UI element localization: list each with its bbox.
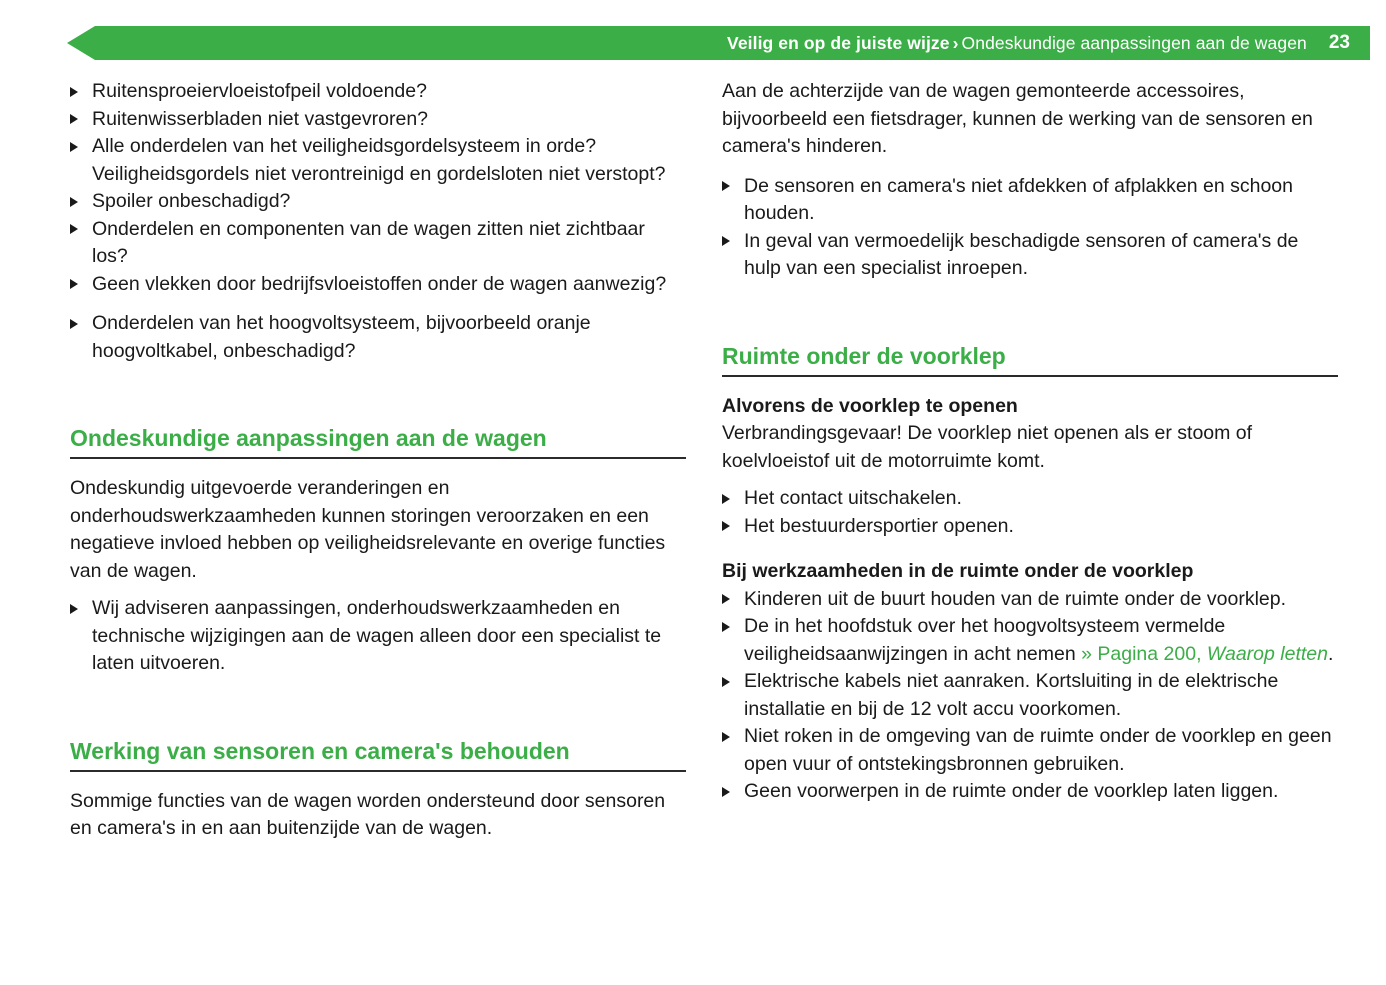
section1-bullet-list: Wij adviseren aanpassingen, onderhoudswe… [70, 595, 686, 678]
running-header-text: Veilig en op de juiste wijze›Ondeskundig… [727, 33, 1307, 54]
section-heading-ondeskundige-aanpassingen: Ondeskundige aanpassingen aan de wagen [70, 423, 686, 459]
section-heading-werking-sensoren: Werking van sensoren en camera's behoude… [70, 736, 686, 772]
list-item-text: Het bestuurdersportier openen. [744, 515, 1014, 537]
list-item: Het contact uitschakelen. [722, 485, 1338, 513]
right-intro-paragraph: Aan de achterzijde van de wagen gemontee… [722, 78, 1338, 161]
list-item: Niet roken in de omgeving van de ruimte … [722, 723, 1338, 778]
section2-paragraph: Sommige functies van de wagen worden ond… [70, 788, 686, 843]
subheading-bij-werkzaamheden: Bij werkzaamheden in de ruimte onder de … [722, 558, 1338, 586]
triangle-bullet-icon [722, 732, 730, 742]
list-item-text: De sensoren en camera's niet afdekken of… [744, 175, 1293, 225]
header-separator-icon: › [950, 33, 962, 53]
list-item-text: Geen vlekken door bedrijfsvloeistoffen o… [92, 273, 666, 295]
list-item: Ruitenwisserbladen niet vastgevroren? [70, 106, 686, 134]
spacer [70, 365, 686, 423]
section3-paragraph1: Verbrandingsgevaar! De voorklep niet ope… [722, 420, 1338, 475]
section-heading-ruimte-onder-voorklep: Ruimte onder de voorklep [722, 341, 1338, 377]
list-item-text: Kinderen uit de buurt houden van de ruim… [744, 588, 1286, 610]
list-item-text: Onderdelen en componenten van de wagen z… [92, 218, 645, 268]
list-item: Elektrische kabels niet aanraken. Kortsl… [722, 668, 1338, 723]
crossreference-suffix: . [1328, 643, 1333, 665]
list-item: Onderdelen van het hoogvoltsysteem, bijv… [70, 310, 686, 365]
spacer [722, 163, 1338, 173]
spacer [722, 477, 1338, 485]
spacer [70, 772, 686, 788]
triangle-bullet-icon [70, 604, 78, 614]
list-item: Spoiler onbeschadigd? [70, 188, 686, 216]
triangle-bullet-icon [722, 594, 730, 604]
list-item: Ruitensproeiervloeistofpeil voldoende? [70, 78, 686, 106]
right-intro-bullet-list: De sensoren en camera's niet afdekken of… [722, 173, 1338, 283]
spacer [70, 587, 686, 595]
right-column: Aan de achterzijde van de wagen gemontee… [722, 78, 1338, 806]
list-item-text: Elektrische kabels niet aanraken. Kortsl… [744, 670, 1278, 720]
list-item-text: Het contact uitschakelen. [744, 487, 962, 509]
page-number: 23 [1329, 32, 1350, 54]
triangle-bullet-icon [722, 181, 730, 191]
list-item-text: Niet roken in de omgeving van de ruimte … [744, 725, 1332, 775]
triangle-bullet-icon [722, 787, 730, 797]
triangle-bullet-icon [70, 224, 78, 234]
section1-paragraph: Ondeskundig uitgevoerde veranderingen en… [70, 475, 686, 585]
list-item-text: Ruitenwisserbladen niet vastgevroren? [92, 108, 428, 130]
list-item: Alle onderdelen van het veiligheidsgorde… [70, 133, 686, 188]
list-item: Onderdelen en componenten van de wagen z… [70, 216, 686, 271]
section3-bullet-list-1: Het contact uitschakelen. Het bestuurder… [722, 485, 1338, 540]
list-item: Wij adviseren aanpassingen, onderhoudswe… [70, 595, 686, 678]
triangle-bullet-icon [70, 114, 78, 124]
triangle-bullet-icon [722, 494, 730, 504]
spacer [722, 377, 1338, 393]
list-item-text: Alle onderdelen van het veiligheidsgorde… [92, 135, 665, 185]
spacer [70, 678, 686, 736]
list-item: Geen voorwerpen in de ruimte onder de vo… [722, 778, 1338, 806]
list-item: In geval van vermoedelijk beschadigde se… [722, 228, 1338, 283]
list-item-text: Ruitensproeiervloeistofpeil voldoende? [92, 80, 427, 102]
list-item-text: Spoiler onbeschadigd? [92, 190, 290, 212]
triangle-bullet-icon [70, 279, 78, 289]
subheading-alvorens-voorklep-openen: Alvorens de voorklep te openen [722, 393, 1338, 421]
triangle-bullet-icon [722, 622, 730, 632]
list-item: Het bestuurdersportier openen. [722, 513, 1338, 541]
triangle-bullet-icon [70, 87, 78, 97]
crossreference-link-title[interactable]: Waarop letten [1207, 643, 1328, 665]
triangle-bullet-icon [722, 677, 730, 687]
running-header-bar: Veilig en op de juiste wijze›Ondeskundig… [67, 26, 1370, 60]
list-item-text: Geen voorwerpen in de ruimte onder de vo… [744, 780, 1278, 802]
list-item: Kinderen uit de buurt houden van de ruim… [722, 586, 1338, 614]
spacer [70, 298, 686, 310]
left-column: Ruitensproeiervloeistofpeil voldoende? R… [70, 78, 686, 845]
list-item-text: Wij adviseren aanpassingen, onderhoudswe… [92, 597, 661, 674]
section3-bullet-list-2: Kinderen uit de buurt houden van de ruim… [722, 586, 1338, 806]
triangle-bullet-icon [70, 197, 78, 207]
list-item: Geen vlekken door bedrijfsvloeistoffen o… [70, 271, 686, 299]
spacer [722, 283, 1338, 341]
triangle-bullet-icon [70, 319, 78, 329]
checklist-list: Ruitensproeiervloeistofpeil voldoende? R… [70, 78, 686, 298]
header-chapter-label: Veilig en op de juiste wijze [727, 33, 950, 53]
list-item-with-crossreference: De in het hoofdstuk over het hoogvoltsys… [722, 613, 1338, 668]
list-item-text: In geval van vermoedelijk beschadigde se… [744, 230, 1298, 280]
triangle-bullet-icon [70, 142, 78, 152]
list-item-text: Onderdelen van het hoogvoltsysteem, bijv… [92, 312, 591, 362]
triangle-bullet-icon [722, 521, 730, 531]
spacer [70, 459, 686, 475]
list-item: De sensoren en camera's niet afdekken of… [722, 173, 1338, 228]
checklist-list-continued: Onderdelen van het hoogvoltsysteem, bijv… [70, 310, 686, 365]
spacer [722, 540, 1338, 558]
crossreference-link[interactable]: » Pagina 200, [1081, 643, 1207, 665]
triangle-bullet-icon [722, 236, 730, 246]
header-section-label: Ondeskundige aanpassingen aan de wagen [962, 33, 1307, 53]
